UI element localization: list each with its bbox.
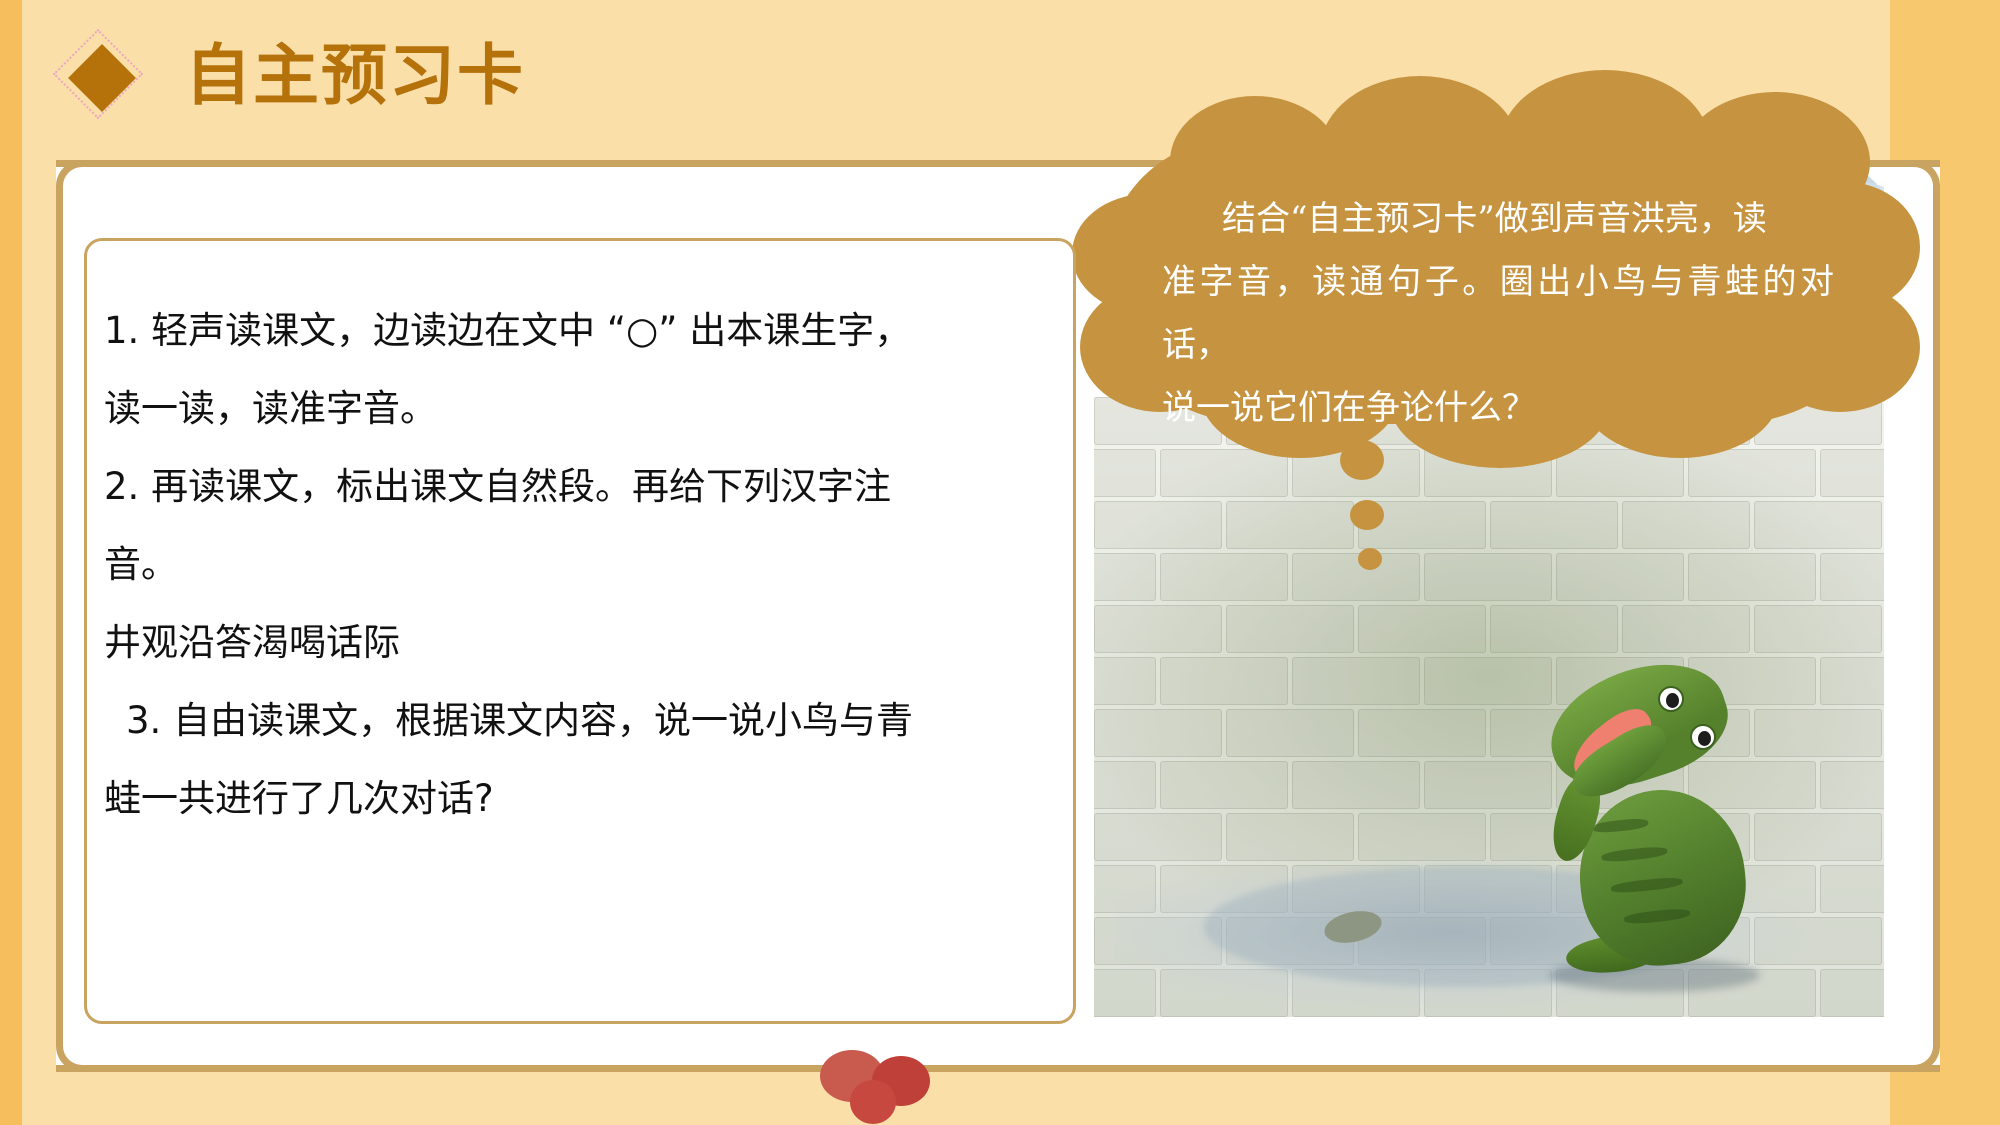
brick (1754, 501, 1882, 549)
brick (1820, 449, 1884, 497)
slide-root: 自主预习卡 (0, 0, 2000, 1125)
brick (1424, 553, 1552, 601)
brick (1292, 761, 1420, 809)
brick (1160, 657, 1288, 705)
left-accent-strip (0, 0, 22, 1125)
bubble-line: 说一说它们在争论什么？ (1162, 377, 1834, 440)
brick (1094, 761, 1156, 809)
card-edge-right (1933, 198, 1940, 1036)
thought-bubble-text: 结合“自主预习卡”做到声音洪亮，读 准字音，读通句子。圈出小鸟与青蛙的对话， 说… (1162, 188, 1834, 440)
brick (1160, 761, 1288, 809)
instruction-line: 1. 轻声读课文，边读边在文中 “○” 出本课生字， (104, 292, 1064, 370)
brick (1358, 605, 1486, 653)
bubble-line: 准字音，读通句子。圈出小鸟与青蛙的对话， (1162, 251, 1834, 377)
thought-bubble: 结合“自主预习卡”做到声音洪亮，读 准字音，读通句子。圈出小鸟与青蛙的对话， 说… (1110, 132, 1878, 424)
brick (1292, 657, 1420, 705)
frog-eye (1690, 724, 1716, 750)
brick (1622, 501, 1750, 549)
frog-character (1540, 680, 1790, 980)
brick (1820, 657, 1884, 705)
brick (1094, 501, 1222, 549)
instruction-line: 3. 自由读课文，根据课文内容，说一说小鸟与青 (104, 682, 1064, 760)
brick (1424, 657, 1552, 705)
brick (1226, 813, 1354, 861)
brick (1820, 761, 1884, 809)
frog-stripe (1601, 845, 1668, 863)
brick (1490, 501, 1618, 549)
thought-dot-small (1358, 548, 1382, 570)
page-title: 自主预习卡 (185, 28, 525, 124)
brick (1226, 501, 1354, 549)
brick (1160, 449, 1288, 497)
brick (1160, 553, 1288, 601)
thought-dot-large (1340, 440, 1384, 480)
brick (1358, 813, 1486, 861)
brick (1556, 553, 1684, 601)
flower-decoration (820, 1050, 940, 1125)
brick (1094, 449, 1156, 497)
brick (1754, 605, 1882, 653)
flower-petal (850, 1080, 896, 1124)
brick (1358, 709, 1486, 757)
frog-stripe (1592, 817, 1649, 834)
card-edge-left (56, 198, 63, 1036)
bubble-line: 结合“自主预习卡”做到声音洪亮，读 (1162, 188, 1834, 251)
instructions-text: 1. 轻声读课文，边读边在文中 “○” 出本课生字， 读一读，读准字音。 2. … (104, 292, 1064, 838)
thought-dot-medium (1350, 500, 1384, 530)
instruction-line: 2. 再读课文，标出课文自然段。再给下列汉字注 (104, 448, 1064, 526)
brick (1292, 553, 1420, 601)
frog-eye (1658, 686, 1684, 712)
brick (1094, 605, 1222, 653)
brick (1688, 449, 1816, 497)
brick (1094, 709, 1222, 757)
frog-stripe (1610, 876, 1683, 894)
brick (1424, 761, 1552, 809)
brick (1094, 553, 1156, 601)
instruction-line: 井观沿答渴喝话际 (104, 604, 1064, 682)
frog-stripe (1624, 907, 1691, 925)
brick (1226, 605, 1354, 653)
brick (1688, 553, 1816, 601)
instruction-line: 读一读，读准字音。 (104, 370, 1064, 448)
brick (1094, 813, 1222, 861)
brick (1622, 605, 1750, 653)
brick (1094, 657, 1156, 705)
brick (1820, 553, 1884, 601)
instruction-line: 音。 (104, 526, 1064, 604)
brick (1226, 709, 1354, 757)
brick (1490, 605, 1618, 653)
instruction-line: 蛙一共进行了几次对话? (104, 760, 1064, 838)
